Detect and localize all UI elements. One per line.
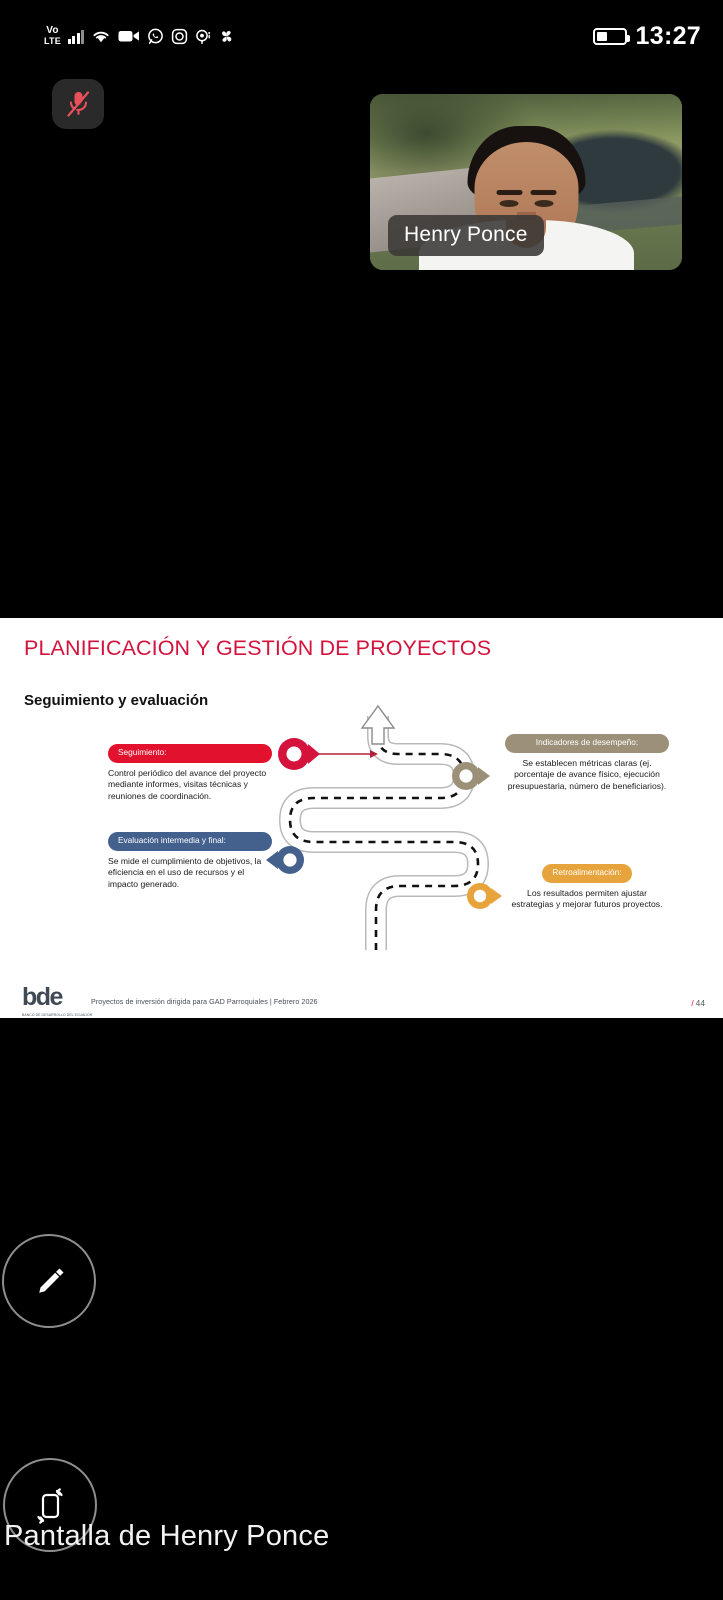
callout-retroalimentacion: Retroalimentación: Los resultados permit… [505,862,669,911]
callout-text-retroalimentacion: Los resultados permiten ajustar estrateg… [505,888,669,912]
wifi-icon [91,28,111,44]
instagram-icon [171,28,188,45]
participant-name-label: Henry Ponce [388,215,544,256]
microphone-muted-indicator[interactable] [52,79,104,129]
page-total: 44 [696,998,705,1008]
pinwheel-icon [218,28,235,45]
signal-bars-icon [68,29,85,44]
callout-label-seguimiento: Seguimiento: [108,744,272,763]
pencil-icon [27,1259,71,1303]
callout-seguimiento: Seguimiento: Control periódico del avanc… [108,742,272,803]
volte-top-label: Vo [46,25,58,36]
callout-evaluacion: Evaluación intermedia y final: Se mide e… [108,830,272,891]
slide-subtitle: Seguimiento y evaluación [24,692,208,709]
status-bar-left-icons: Vo LTE [44,26,235,46]
video-camera-icon [118,29,140,43]
status-bar-right: 13:27 [593,22,701,51]
callout-label-retroalimentacion: Retroalimentación: [542,864,631,883]
participant-video-tile[interactable]: Henry Ponce [370,94,682,270]
callout-text-seguimiento: Control periódico del avance del proyect… [108,768,272,804]
bde-logo: bde [22,982,82,1012]
marker-taupe [452,762,490,790]
slide-page-number: /44 [691,998,705,1008]
volte-indicator: Vo LTE [44,26,61,46]
callout-text-indicadores: Se establecen métricas claras (ej. porce… [505,758,669,794]
microphone-muted-icon [65,89,92,119]
slide-footer-caption: Proyectos de inversión dirigida para GAD… [91,997,318,1006]
battery-icon [593,28,627,45]
callout-label-evaluacion: Evaluación intermedia y final: [108,832,272,851]
volte-bottom-label: LTE [44,36,61,46]
status-bar: Vo LTE [0,0,723,72]
bde-logo-subtext: BANCO DE DESARROLLO DEL ECUADOR [22,1013,92,1017]
callout-text-evaluacion: Se mide el cumplimiento de objetivos, la… [108,856,272,892]
page-slash: / [691,998,693,1008]
roadmap-diagram [258,700,508,960]
slide-title: PLANIFICACIÓN Y GESTIÓN DE PROYECTOS [24,636,491,661]
slide-footer: bde BANCO DE DESARROLLO DEL ECUADOR Proy… [0,976,723,1018]
screen-share-label: Pantalla de Henry Ponce [4,1520,329,1553]
status-bar-clock: 13:27 [636,22,701,51]
marker-red [278,738,320,770]
callout-indicadores: Indicadores de desempeño: Se establecen … [505,732,669,793]
whatsapp-icon [147,28,164,45]
callout-label-indicadores: Indicadores de desempeño: [505,734,669,753]
screen-record-icon [195,28,211,45]
shared-screen-slide[interactable]: PLANIFICACIÓN Y GESTIÓN DE PROYECTOS Seg… [0,618,723,1018]
marker-gold [467,883,502,909]
annotate-button[interactable] [2,1234,96,1328]
svg-text:bde: bde [22,983,64,1011]
